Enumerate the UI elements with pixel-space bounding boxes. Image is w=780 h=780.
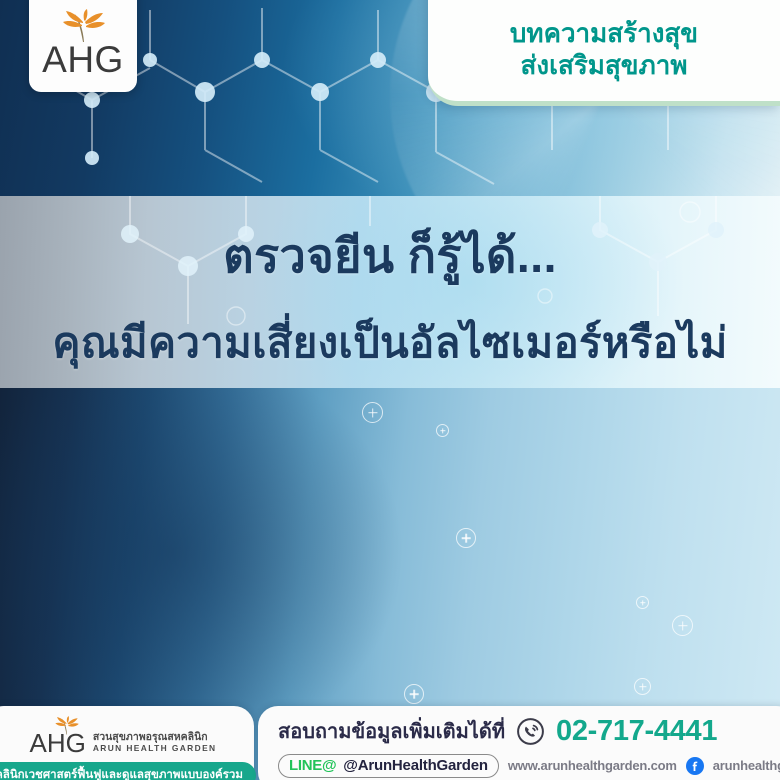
footer-contact-panel: สอบถามข้อมูลเพิ่มเติมได้ที่ 02-717-4441 … (258, 706, 780, 780)
contact-row-social: LINE@ @ArunHealthGarden www.arunhealthga… (278, 754, 778, 778)
ahg-logo-card: AHG (29, 0, 137, 92)
ahg-wordmark: AHG (42, 41, 124, 78)
plus-icon (436, 424, 449, 437)
footer-brand-panel: AHG สวนสุขภาพอรุณสหคลินิก ARUN HEALTH GA… (0, 706, 254, 780)
line-contact-badge[interactable]: LINE@ @ArunHealthGarden (278, 754, 499, 778)
footer-logo-mark: AHG (29, 716, 85, 756)
top-background: AHG บทความสร้างสุข ส่งเสริมสุขภาพ (0, 0, 780, 196)
plus-icon (672, 615, 693, 636)
footer-brand-names: สวนสุขภาพอรุณสหคลินิก ARUN HEALTH GARDEN (93, 731, 217, 755)
banner-line-1: บทความสร้างสุข (510, 18, 698, 50)
line-logo-icon: LINE@ (289, 757, 336, 774)
plus-icon (404, 684, 424, 704)
contact-row-primary: สอบถามข้อมูลเพิ่มเติมได้ที่ 02-717-4441 (278, 715, 778, 748)
poster-canvas: AHG บทความสร้างสุข ส่งเสริมสุขภาพ (0, 0, 780, 780)
headline-line-2: คุณมีความเสี่ยงเป็นอัลไซเมอร์หรือไม่ (0, 310, 780, 376)
footer-logo-row: AHG สวนสุขภาพอรุณสหคลินิก ARUN HEALTH GA… (21, 716, 216, 756)
phone-number[interactable]: 02-717-4441 (556, 715, 717, 748)
headline-line-1: ตรวจยีน ก็รู้ได้... (0, 218, 780, 293)
plus-icon (636, 596, 649, 609)
line-account-id: @ArunHealthGarden (343, 757, 488, 774)
facebook-icon[interactable] (686, 757, 704, 775)
leaf-sprig-icon (60, 9, 106, 43)
article-banner: บทความสร้างสุข ส่งเสริมสุขภาพ (428, 0, 780, 106)
contact-prompt-label: สอบถามข้อมูลเพิ่มเติมได้ที่ (278, 715, 505, 747)
footer-ahg-wordmark: AHG (29, 730, 85, 756)
brand-name-en: ARUN HEALTH GARDEN (93, 743, 217, 753)
banner-line-2: ส่งเสริมสุขภาพ (521, 50, 688, 82)
facebook-page-name[interactable]: arunhealthgarden (713, 758, 780, 773)
phone-icon (517, 718, 544, 745)
plus-icon (634, 678, 651, 695)
website-url[interactable]: www.arunhealthgarden.com (508, 758, 677, 773)
plus-icon (362, 402, 383, 423)
plus-icon (456, 528, 476, 548)
brand-tagline-pill: คลินิกเวชศาสตร์ฟื้นฟูและดูแลสุขภาพแบบองค… (0, 762, 256, 780)
brand-name-th: สวนสุขภาพอรุณสหคลินิก (93, 731, 217, 743)
